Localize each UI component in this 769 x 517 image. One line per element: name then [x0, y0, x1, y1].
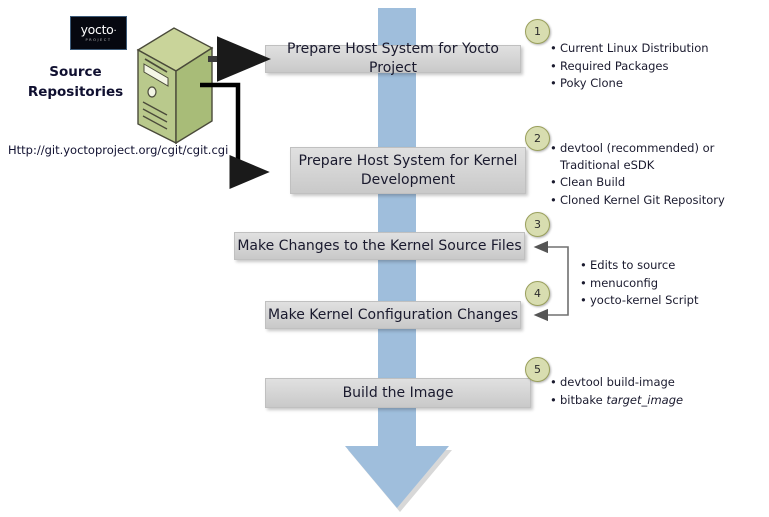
step1-note-item: Required Packages — [560, 58, 763, 75]
connector-server-to-step2 — [200, 85, 263, 172]
step1-note-item: Current Linux Distribution — [560, 40, 763, 57]
step-badge-3: 3 — [525, 212, 550, 237]
step2-note-item: Clean Build — [560, 174, 763, 191]
step5-bitbake-prefix: bitbake — [560, 393, 606, 407]
step5-note-item: devtool build-image — [560, 374, 763, 391]
step1-notes: Current Linux Distribution Required Pack… — [548, 40, 763, 93]
step5-notes: devtool build-image bitbake target_image — [548, 374, 763, 409]
step-badge-2: 2 — [525, 126, 550, 151]
step2-note-item: devtool (recommended) or Traditional eSD… — [560, 140, 763, 173]
step2-notes: devtool (recommended) or Traditional eSD… — [548, 140, 763, 210]
step2-note-item: Cloned Kernel Git Repository — [560, 192, 763, 209]
step5-bitbake-target: target_image — [606, 393, 683, 407]
connector-notes-to-step3 — [536, 247, 568, 253]
shared-note-item: yocto-kernel Script — [590, 292, 763, 309]
step-badge-5: 5 — [525, 357, 550, 382]
step-badge-4: 4 — [525, 281, 550, 306]
step-badge-1: 1 — [525, 19, 550, 44]
step3-step4-shared-notes: Edits to source menuconfig yocto-kernel … — [578, 257, 763, 310]
shared-note-item: menuconfig — [590, 275, 763, 292]
shared-note-item: Edits to source — [590, 257, 763, 274]
step1-note-item: Poky Clone — [560, 75, 763, 92]
step5-note-item-bitbake: bitbake target_image — [560, 392, 763, 409]
diagram-canvas: yocto· PROJECT Source Repositories Http:… — [0, 0, 769, 517]
